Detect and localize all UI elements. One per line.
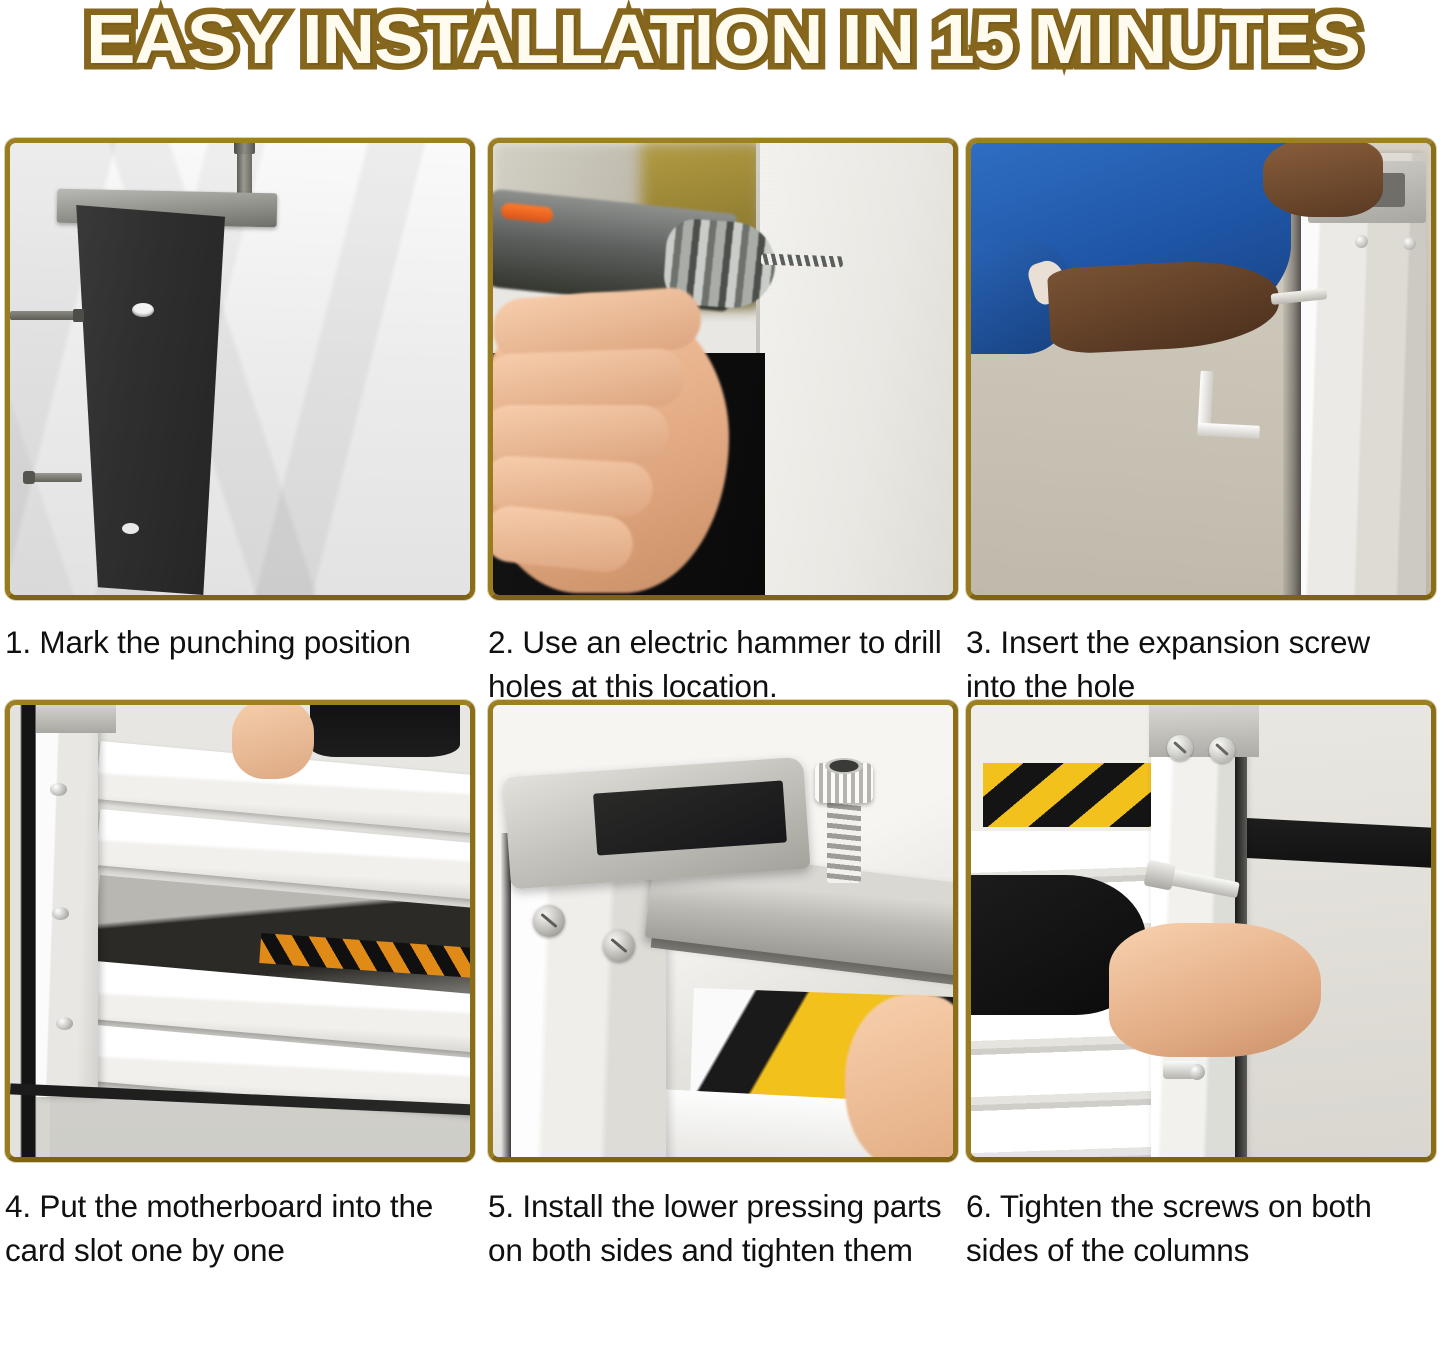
step-4-photo-frame [5,700,475,1162]
thumb-bolt-shaft [827,801,861,883]
step-card-6: 6. Tighten the screws on both sides of t… [961,700,1445,1212]
step-5-photo [493,705,953,1157]
step-4-photo [10,705,470,1157]
step-2-photo [493,143,953,595]
step-5-caption: 5. Install the lower pressing parts on b… [488,1184,943,1272]
post-screw [50,783,67,796]
worker-hand [1263,143,1383,217]
column-post-cap [36,705,116,733]
step-2-photo-frame [488,138,958,600]
hazard-stripe [983,763,1151,827]
hand [1109,923,1321,1057]
template-hole-lower [122,523,139,534]
step-5-photo-frame [488,700,958,1162]
post-screw [56,1017,73,1030]
step-card-3: 3. Insert the expansion screw into the h… [961,96,1445,700]
column-cap [1149,705,1259,757]
step-2-caption: 2. Use an electric hammer to drill holes… [488,620,943,708]
finger [493,405,669,461]
column-screw [1355,235,1368,248]
page-title: EASY INSTALLATION IN 15 MINUTES [85,2,1359,76]
hand [232,705,314,779]
thumb-bolt-head [815,763,873,803]
side-bolt-upper [10,311,82,320]
allen-key [1197,371,1213,436]
post-screw [52,907,69,920]
column-post [36,705,98,1097]
bracket-slot [593,780,787,855]
step-card-5: 5. Install the lower pressing parts on b… [483,700,961,1212]
step-3-photo [971,143,1431,595]
finger [493,348,686,413]
column-screw [1167,735,1193,761]
template-hole-upper [132,303,154,317]
bracket-screw [533,905,565,937]
step-6-photo-frame [966,700,1436,1162]
column-screw [1403,237,1416,250]
step-card-4: 4. Put the motherboard into the card slo… [0,700,483,1212]
step-1-photo-frame [5,138,475,600]
header-banner: EASY INSTALLATION IN 15 MINUTES [0,0,1445,96]
bracket-screw [603,930,635,962]
column-screw [1209,737,1235,763]
step-4-caption: 4. Put the motherboard into the card slo… [5,1184,460,1272]
step-1-photo [10,143,470,595]
side-bolt-lower [26,473,82,482]
step-card-2: 2. Use an electric hammer to drill holes… [483,96,961,700]
step-6-photo [971,705,1431,1157]
step-card-1: 1. Mark the punching position [0,96,483,700]
lower-screw [1163,1061,1199,1079]
step-3-photo-frame [966,138,1436,600]
step-6-caption: 6. Tighten the screws on both sides of t… [966,1184,1421,1272]
textured-wall [758,143,953,595]
step-1-caption: 1. Mark the punching position [5,620,460,664]
dark-figure [310,705,460,757]
step-3-caption: 3. Insert the expansion screw into the h… [966,620,1421,708]
installation-steps-grid: 1. Mark the punching position 2. Use [0,96,1445,1212]
